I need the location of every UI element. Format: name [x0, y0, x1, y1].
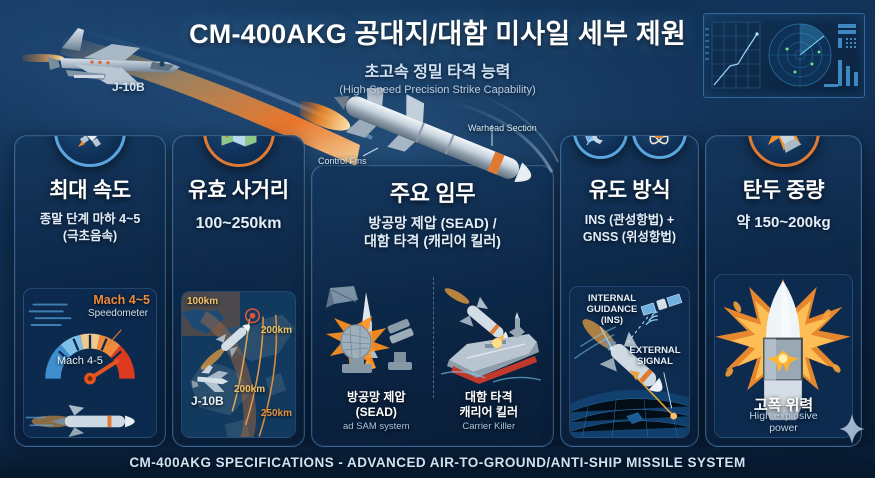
card-value-2: GNSS (위성항법)	[561, 229, 698, 246]
guidance-external-2: SIGNAL	[623, 356, 687, 367]
speedometer-headline: Mach 4~5	[93, 293, 150, 307]
card-value-2: (극초음속)	[15, 228, 165, 245]
mission-sead-label-1: 방공망 제압	[347, 390, 406, 404]
card-value: INS (관성항법) +	[561, 212, 698, 229]
card-warhead-weight[interactable]: 탄두 중량 약 150~200kg	[705, 135, 862, 447]
card-value-2: 대함 타격 (캐리어 킬러)	[312, 232, 553, 250]
mission-carrier-label-en: Carrier Killer	[462, 421, 515, 432]
range-ring-label-1: 200km	[261, 325, 292, 336]
card-title: 탄두 중량	[706, 174, 861, 204]
range-map-media: 100km 200km 200km 250km J-10B	[181, 291, 296, 438]
warhead-blast-media: 고폭 위력 High explosive power	[714, 274, 853, 438]
mission-sead-label-en: ad SAM system	[343, 421, 410, 432]
card-title: 최대 속도	[15, 174, 165, 204]
guidance-internal-3: (INS)	[574, 315, 650, 326]
page-subtitle: 초고속 정밀 타격 능력	[0, 58, 875, 82]
mission-pair-media: 방공망 제압 (SEAD) ad SAM system	[320, 271, 545, 438]
speedometer-media: Mach 4~5 Speedometer Mach 4-5	[23, 288, 157, 438]
guidance-internal-2: GUIDANCE	[574, 304, 650, 315]
missile-illustration	[300, 88, 570, 183]
card-max-speed[interactable]: 최대 속도 종말 단계 마하 4~5 (극초음속)	[14, 135, 166, 447]
page-title: CM-400AKG 공대지/대함 미사일 세부 제원	[0, 12, 875, 51]
card-guidance[interactable]: 유도 방식 INS (관성항법) + GNSS (위성항법)	[560, 135, 699, 447]
callout-control-fins: Control Fins	[318, 156, 367, 166]
range-ring-label-3: 250km	[261, 408, 292, 419]
guidance-diagram-media: INTERNAL GUIDANCE (INS) EXTERNAL SIGNAL	[569, 286, 690, 438]
card-effective-range[interactable]: 유효 사거리 100~250km	[172, 135, 305, 447]
card-title: 유도 방식	[561, 174, 698, 204]
page-subtitle-en: (High-Speed Precision Strike Capability)	[0, 84, 875, 96]
guidance-label-internal: INTERNAL GUIDANCE (INS)	[574, 293, 650, 327]
mission-sead: 방공망 제압 (SEAD) ad SAM system	[320, 271, 433, 438]
page-header: CM-400AKG 공대지/대함 미사일 세부 제원 초고속 정밀 타격 능력 …	[0, 12, 875, 96]
mission-carrier-label-1: 대함 타격	[465, 390, 513, 404]
footer-bar: CM-400AKG SPECIFICATIONS - ADVANCED AIR-…	[0, 447, 875, 478]
speedometer-gauge-label: Mach 4-5	[57, 355, 103, 367]
range-ring-label-0: 100km	[187, 296, 218, 307]
footer-text: CM-400AKG SPECIFICATIONS - ADVANCED AIR-…	[129, 455, 745, 470]
card-title: 유효 사거리	[173, 174, 304, 204]
warhead-label-en-2: power	[715, 422, 852, 434]
warhead-label-en: High explosive power	[715, 410, 852, 434]
guidance-external-1: EXTERNAL	[623, 345, 687, 356]
warhead-label-en-1: High explosive	[715, 410, 852, 422]
range-ring-label-2: 200km	[234, 384, 265, 395]
mission-carrier-label-2: 캐리어 킬러	[459, 405, 518, 419]
card-primary-mission[interactable]: 주요 임무 방공망 제압 (SEAD) / 대함 타격 (캐리어 킬러)	[311, 165, 554, 447]
speedometer-caption: Speedometer	[88, 308, 148, 319]
card-value: 약 150~200kg	[706, 213, 861, 233]
mission-carrier-killer: 대함 타격 캐리어 킬러 Carrier Killer	[433, 271, 546, 438]
callout-warhead-section: Warhead Section	[468, 123, 537, 133]
card-value: 방공망 제압 (SEAD) /	[312, 214, 553, 232]
guidance-internal-1: INTERNAL	[574, 293, 650, 304]
aircraft-carrier-icon	[433, 282, 545, 390]
range-map-aircraft-label: J-10B	[191, 394, 224, 408]
infographic-root: CM-400AKG 공대지/대함 미사일 세부 제원 초고속 정밀 타격 능력 …	[0, 0, 875, 478]
card-value: 100~250km	[173, 213, 304, 234]
card-value: 종말 단계 마하 4~5	[15, 211, 165, 228]
mission-sead-label-2: (SEAD)	[356, 405, 397, 419]
guidance-label-external: EXTERNAL SIGNAL	[623, 345, 687, 367]
radar-explosion-icon	[320, 282, 432, 390]
sparkle-icon	[839, 414, 865, 444]
